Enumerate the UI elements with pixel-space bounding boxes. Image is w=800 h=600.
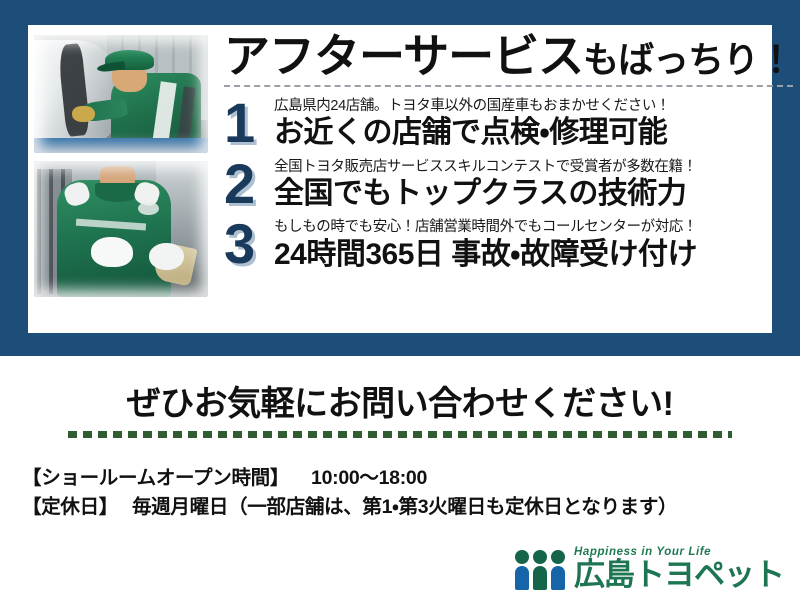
top-white-panel: アフターサービス もばっちり！ 1 広島県内24店舗。トヨタ車以外の国産車もおま… bbox=[28, 25, 772, 333]
showroom-hours-line: 【ショールームオープン時間】10:00〜18:00 bbox=[22, 464, 800, 493]
photo-column bbox=[34, 31, 212, 327]
holiday-line: 【定休日】毎週月曜日（一部店舗は、第1・第3火曜日も定休日となります） bbox=[22, 493, 800, 522]
headline-sub-text: もばっちり！ bbox=[583, 42, 793, 78]
showroom-hours-label: 【ショールームオープン時間】 bbox=[22, 467, 289, 489]
three-people-logo-icon bbox=[515, 550, 565, 590]
cta-wrapper: ぜひお気軽にお問い合わせください! bbox=[0, 356, 800, 438]
point-body: 広島県内24店舗。トヨタ車以外の国産車もおまかせください！ お近くの店舗で点検・… bbox=[272, 97, 793, 150]
showroom-hours-value: 10:00〜18:00 bbox=[311, 467, 427, 489]
point-number: 3 bbox=[224, 218, 272, 270]
point-title-text: 全国でもトップクラスの技術力 bbox=[274, 177, 793, 211]
company-logo: Happiness in Your Life 広島トヨペット bbox=[515, 546, 784, 590]
headline-dashed-divider bbox=[224, 85, 793, 87]
text-column: アフターサービス もばっちり！ 1 広島県内24店舗。トヨタ車以外の国産車もおま… bbox=[212, 31, 793, 327]
page-title: アフターサービス もばっちり！ bbox=[224, 31, 793, 79]
point-row: 2 全国トヨタ販売店サービススキルコンテストで受賞者が多数在籍！ 全国でもトップ… bbox=[224, 158, 793, 211]
cta-dotted-underline bbox=[68, 431, 732, 438]
top-navy-frame: アフターサービス もばっちり！ 1 広島県内24店舗。トヨタ車以外の国産車もおま… bbox=[0, 0, 800, 356]
point-row: 1 広島県内24店舗。トヨタ車以外の国産車もおまかせください！ お近くの店舗で点… bbox=[224, 97, 793, 150]
technician-white-gloves-photo bbox=[34, 161, 208, 297]
mechanic-inspecting-car-photo bbox=[34, 35, 208, 153]
logo-company-name: 広島トヨペット bbox=[574, 559, 784, 590]
holiday-label: 【定休日】 bbox=[22, 496, 118, 518]
point-body: 全国トヨタ販売店サービススキルコンテストで受賞者が多数在籍！ 全国でもトップクラ… bbox=[272, 158, 793, 211]
point-title-text: お近くの店舗で点検・修理可能 bbox=[274, 116, 793, 150]
logo-text-block: Happiness in Your Life 広島トヨペット bbox=[574, 546, 784, 590]
lower-info-section: ぜひお気軽にお問い合わせください! 【ショールームオープン時間】10:00〜18… bbox=[0, 356, 800, 600]
business-hours-block: 【ショールームオープン時間】10:00〜18:00 【定休日】毎週月曜日（一部店… bbox=[0, 464, 800, 523]
point-lead-text: 広島県内24店舗。トヨタ車以外の国産車もおまかせください！ bbox=[274, 97, 793, 115]
point-lead-text: もしもの時でも安心！店舗営業時間外でもコールセンターが対応！ bbox=[274, 218, 793, 236]
point-row: 3 もしもの時でも安心！店舗営業時間外でもコールセンターが対応！ 24時間365… bbox=[224, 218, 793, 271]
point-body: もしもの時でも安心！店舗営業時間外でもコールセンターが対応！ 24時間365日 … bbox=[272, 218, 793, 271]
point-title-text: 24時間365日 事故・故障受け付け bbox=[274, 238, 793, 272]
point-lead-text: 全国トヨタ販売店サービススキルコンテストで受賞者が多数在籍！ bbox=[274, 158, 793, 176]
holiday-value: 毎週月曜日（一部店舗は、第1・第3火曜日も定休日となります） bbox=[132, 496, 677, 518]
headline-main-text: アフターサービス bbox=[224, 33, 583, 79]
after-service-banner: アフターサービス もばっちり！ 1 広島県内24店舗。トヨタ車以外の国産車もおま… bbox=[0, 0, 800, 600]
point-number: 2 bbox=[224, 158, 272, 210]
cta-heading: ぜひお気軽にお問い合わせください! bbox=[127, 376, 674, 425]
point-number: 1 bbox=[224, 97, 272, 149]
